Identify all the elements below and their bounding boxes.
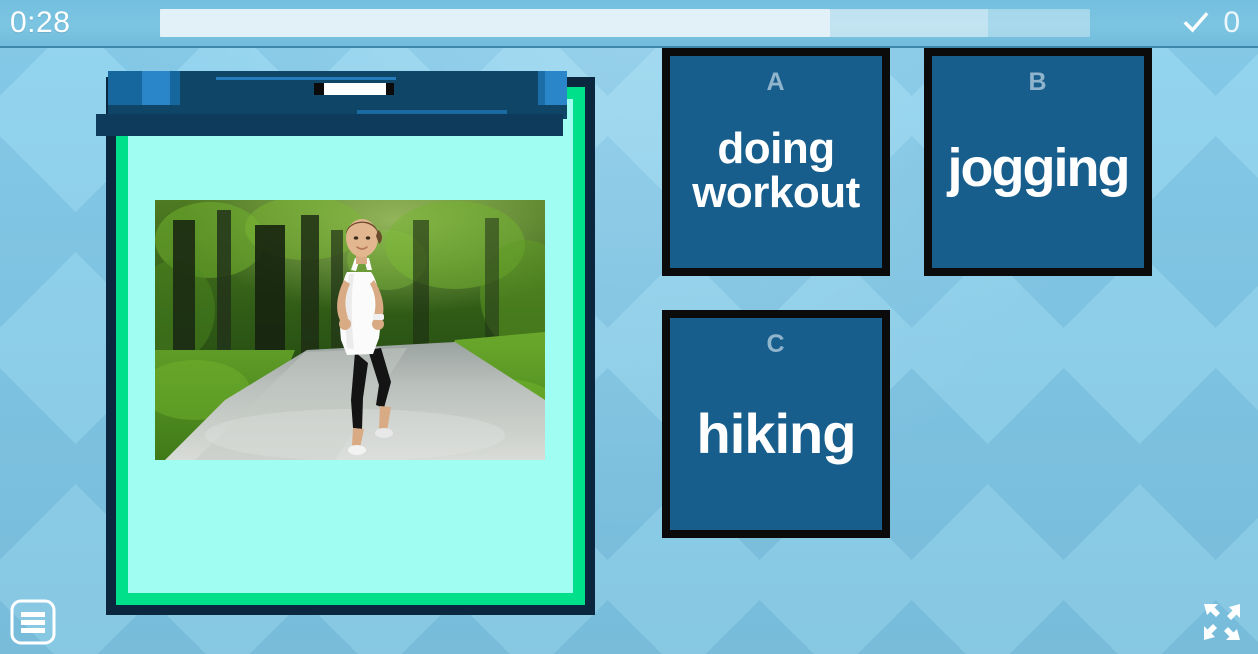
answer-tile-a-face: A doing workout <box>670 56 882 268</box>
answer-label-c: hiking <box>670 406 882 462</box>
fullscreen-button[interactable] <box>1198 598 1246 646</box>
band-block <box>545 71 567 105</box>
answer-tiles: A doing workout B jogging C hiking <box>660 48 1220 654</box>
question-card-header-band <box>108 71 567 119</box>
answer-tile-b[interactable]: B jogging <box>924 48 1152 276</box>
answer-tile-a[interactable]: A doing workout <box>662 48 890 276</box>
question-media-card <box>106 77 595 615</box>
question-image <box>155 200 545 460</box>
answer-tile-b-face: B jogging <box>932 56 1144 268</box>
check-icon <box>1183 10 1209 36</box>
redacted-text-block <box>314 83 394 95</box>
band-block <box>170 71 180 105</box>
answer-label-a: doing workout <box>670 127 882 215</box>
score-value: 0 <box>1223 8 1240 38</box>
main-content: A doing workout B jogging C hiking <box>0 48 1258 654</box>
progress-fill <box>160 9 830 37</box>
band-block <box>538 71 545 105</box>
answer-letter-c: C <box>670 332 882 357</box>
progress-current-segment <box>830 9 988 37</box>
menu-button[interactable] <box>9 598 57 646</box>
answer-tile-c-face: C hiking <box>670 318 882 530</box>
countdown-timer: 0:28 <box>10 6 160 40</box>
hamburger-menu-icon <box>9 598 57 646</box>
question-card-header-band-lower <box>96 114 563 136</box>
answer-letter-a: A <box>670 70 882 95</box>
question-progress-bar <box>160 9 1090 37</box>
band-block <box>108 71 142 105</box>
fullscreen-expand-icon <box>1198 598 1246 646</box>
score-area: 0 <box>1090 8 1258 38</box>
band-streak <box>216 77 396 80</box>
answer-letter-b: B <box>932 70 1144 95</box>
top-bar: 0:28 0 <box>0 0 1258 48</box>
answer-tile-c[interactable]: C hiking <box>662 310 890 538</box>
band-block <box>142 71 170 105</box>
answer-label-b: jogging <box>932 141 1144 195</box>
